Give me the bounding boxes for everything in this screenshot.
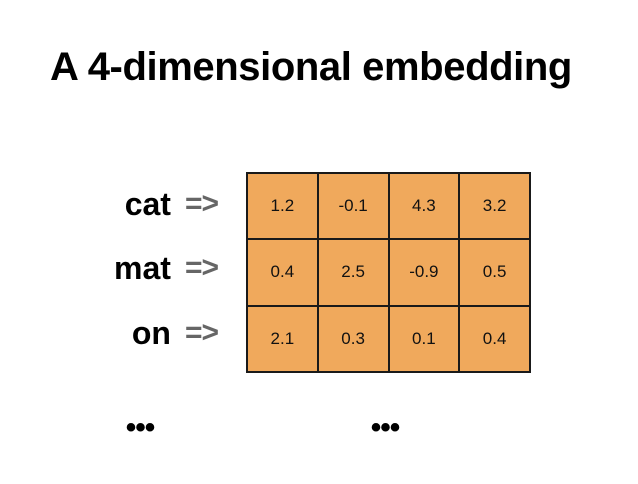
maps-to-arrow-icon: => xyxy=(185,253,218,283)
matrix-cell: 0.3 xyxy=(318,306,389,372)
word-label: cat xyxy=(125,188,171,220)
maps-to-arrow-icon: => xyxy=(185,189,218,219)
word-label: on xyxy=(132,317,171,349)
word-row-on: on => xyxy=(0,301,232,365)
table-row: 1.2 -0.1 4.3 3.2 xyxy=(247,173,530,239)
matrix-ellipsis: ••• xyxy=(371,413,400,443)
embedding-figure: cat => mat => on => 1.2 -0.1 4.3 3.2 0.4… xyxy=(0,172,638,366)
word-row-cat: cat => xyxy=(0,172,232,236)
embedding-matrix: 1.2 -0.1 4.3 3.2 0.4 2.5 -0.9 0.5 2.1 0.… xyxy=(246,172,531,373)
matrix-cell: 3.2 xyxy=(459,173,530,239)
matrix-cell: 4.3 xyxy=(389,173,460,239)
table-row: 2.1 0.3 0.1 0.4 xyxy=(247,306,530,372)
matrix-cell: 0.4 xyxy=(247,239,318,305)
matrix-cell: -0.1 xyxy=(318,173,389,239)
matrix-cell: 2.5 xyxy=(318,239,389,305)
matrix-cell: 2.1 xyxy=(247,306,318,372)
word-row-mat: mat => xyxy=(0,236,232,300)
matrix-cell: 0.1 xyxy=(389,306,460,372)
word-label-column: cat => mat => on => xyxy=(0,172,232,366)
page-title: A 4-dimensional embedding xyxy=(50,46,606,88)
word-label: mat xyxy=(114,252,171,284)
maps-to-arrow-icon: => xyxy=(185,318,218,348)
matrix-cell: 1.2 xyxy=(247,173,318,239)
matrix-cell: 0.5 xyxy=(459,239,530,305)
table-row: 0.4 2.5 -0.9 0.5 xyxy=(247,239,530,305)
matrix-cell: 0.4 xyxy=(459,306,530,372)
matrix-cell: -0.9 xyxy=(389,239,460,305)
word-list-ellipsis: ••• xyxy=(126,413,155,443)
